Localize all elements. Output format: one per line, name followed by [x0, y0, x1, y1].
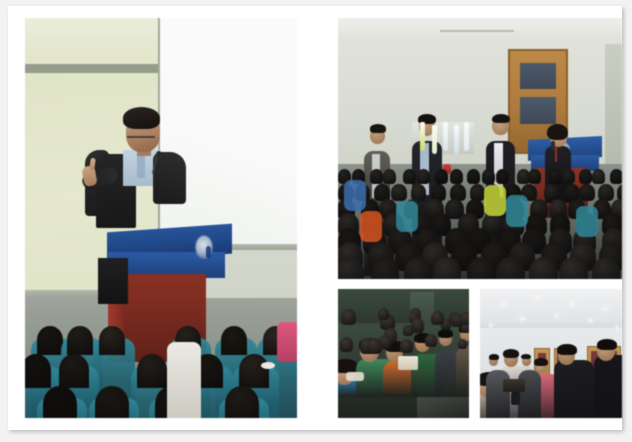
attendee-foreground-right-body [594, 355, 622, 418]
ceiling-light [534, 295, 540, 299]
attendee-background-1-hair [489, 354, 499, 360]
smartphone-icon [511, 392, 520, 405]
eyeglasses-icon [346, 372, 364, 381]
ceiling-light [500, 302, 507, 307]
crowd-head [528, 169, 541, 183]
attendee-foreground-right-hair [597, 339, 618, 351]
speaker-legs [98, 258, 128, 304]
crowd-head [579, 169, 592, 183]
audience-head [225, 386, 259, 418]
attendee-background-2-hair [521, 354, 531, 359]
crowd-head [391, 184, 407, 201]
crowd-garment [576, 206, 598, 237]
water-bottle [432, 125, 437, 154]
photo-card [8, 6, 622, 430]
attendee-striped-shirt-hair [503, 349, 519, 358]
crowd-head [549, 169, 562, 183]
crowd-garment [396, 201, 418, 232]
door-lower-pane [520, 97, 556, 123]
crowd-head [579, 184, 595, 201]
ceiling-light [489, 324, 493, 327]
attendee-pink-top-hair [534, 358, 548, 366]
water-bottle [464, 122, 469, 151]
background-head [341, 309, 356, 325]
audience-head [99, 326, 125, 355]
crowd-head [562, 169, 575, 183]
background-head [378, 308, 389, 320]
audience-head [239, 354, 269, 388]
podium-emblem-inner-icon [206, 246, 211, 258]
crowd-head [370, 169, 383, 183]
hair-clip-icon [261, 362, 275, 369]
listener-front-hair [338, 359, 358, 373]
audience-head [137, 354, 167, 388]
audience-head [221, 326, 247, 355]
crowd-head [403, 169, 416, 183]
ceiling-light [568, 301, 575, 306]
crowd-garment [506, 195, 528, 226]
crowd-head [496, 169, 509, 183]
crowd-head [592, 169, 605, 183]
attendee-dark-suit-body [554, 360, 594, 418]
notebook [398, 356, 418, 370]
door-upper-pane [520, 63, 556, 89]
background-head [340, 337, 353, 351]
audience-white-shirt [167, 342, 201, 418]
crowd-head [482, 169, 495, 183]
crowd-head [467, 169, 480, 183]
photo-panel-and-host[interactable] [338, 18, 622, 279]
speaker-glasses-icon [127, 136, 155, 144]
audience-head [67, 326, 93, 355]
photo-seated-audience[interactable] [338, 289, 469, 418]
panelist-1-hair [370, 124, 386, 133]
attendee-background-1-body [486, 370, 510, 418]
stage-right-wall [605, 44, 622, 169]
wall-trim-band [25, 64, 166, 73]
collage-page [0, 0, 632, 442]
crowd-garment [344, 180, 366, 211]
projection-screen [158, 18, 297, 250]
crowd-head [610, 169, 622, 183]
water-bottle [454, 125, 459, 154]
podium-microphone-head-icon [156, 151, 162, 157]
crowd-head [435, 169, 448, 183]
photo-attendees-conversation[interactable] [480, 289, 622, 418]
ceiling-light [554, 314, 559, 318]
audience-head [43, 386, 77, 418]
crowd-garment [484, 185, 506, 216]
host-hair [547, 124, 568, 140]
listener-5-hair [438, 329, 453, 338]
background-head [411, 318, 424, 333]
attendee-background-2-body [518, 370, 541, 418]
attendee-dark-suit-hair [557, 344, 577, 355]
background-head [431, 311, 444, 325]
held-folder [503, 379, 525, 392]
crowd-head [417, 169, 430, 183]
crowd-head [450, 169, 463, 183]
lobby-ceiling [480, 289, 622, 333]
speaker-right-sleeve [153, 152, 186, 204]
audience-head [37, 326, 63, 355]
ceiling-light [588, 319, 593, 323]
water-bottle [443, 122, 448, 151]
speaker-hair [123, 107, 160, 129]
microphone-lanyard [555, 146, 557, 162]
crowd-head [496, 257, 525, 279]
crowd-head [383, 169, 396, 183]
ceiling-light [520, 317, 525, 321]
water-bottle [420, 122, 425, 151]
photo-speaker-at-podium[interactable] [25, 18, 297, 418]
ceiling-seam [440, 30, 514, 32]
lecture-hall-upper-wall [25, 18, 166, 66]
background-head [400, 339, 413, 353]
background-head [425, 334, 437, 347]
audience-head [59, 354, 89, 388]
audience-head [95, 386, 129, 418]
background-head [460, 312, 469, 325]
background-head [458, 339, 467, 349]
audience-pink-top [277, 322, 297, 362]
listener-6-body [456, 346, 469, 398]
stage-ceiling [338, 18, 622, 36]
audience-head [25, 354, 51, 388]
crowd-garment [360, 211, 382, 242]
background-head [367, 338, 382, 354]
panelist-3-hair [492, 114, 510, 124]
